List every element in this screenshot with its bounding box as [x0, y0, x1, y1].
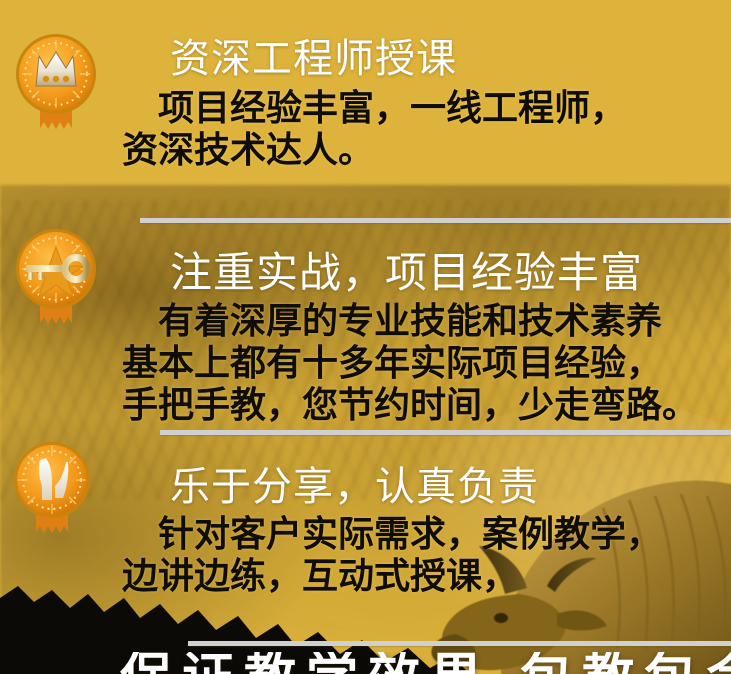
section-body-line: 基本上都有十多年实际项目经验， [122, 343, 662, 384]
section-body-line: 资深技术达人。 [122, 130, 374, 171]
divider-2 [160, 430, 731, 435]
section-body-line: 有着深厚的专业技能和技术素养 [122, 301, 662, 342]
section-title-3: 乐于分享，认真负责 [170, 454, 539, 512]
bottom-headline: 保证教学效果 包教包会 [120, 652, 731, 674]
section-title-1: 资深工程师授课 [170, 26, 457, 84]
section-title-2: 注重实战，项目经验丰富 [170, 239, 643, 300]
bottom-headline-text: 保证教学效果 包教包会 [120, 652, 731, 674]
ribbon-medal-icon [6, 438, 98, 546]
section-body-3: 针对客户实际需求，案例教学， 边讲边练，互动式授课， [122, 514, 662, 598]
crown-medal-icon [10, 30, 102, 138]
section-body-line: 边讲边练，互动式授课， [122, 556, 518, 597]
key-medal-icon [10, 225, 102, 333]
section-row-3: 乐于分享，认真负责 针对客户实际需求，案例教学， 边讲边练，互动式授课， [0, 438, 731, 618]
section-body-line: 针对客户实际需求，案例教学， [122, 514, 662, 555]
section-body-2: 有着深厚的专业技能和技术素养 基本上都有十多年实际项目经验， 手把手教，您节约时… [122, 301, 698, 426]
section-body-1: 项目经验丰富，一线工程师， 资深技术达人。 [122, 88, 626, 172]
section-row-2: 注重实战，项目经验丰富 有着深厚的专业技能和技术素养 基本上都有十多年实际项目经… [0, 225, 731, 425]
divider-1 [140, 218, 731, 223]
promo-poster: 资深工程师授课 项目经验丰富，一线工程师， 资深技术达人。 [0, 0, 731, 674]
section-row-1: 资深工程师授课 项目经验丰富，一线工程师， 资深技术达人。 [0, 0, 731, 200]
section-body-line: 手把手教，您节约时间，少走弯路。 [122, 385, 698, 426]
section-body-line: 项目经验丰富，一线工程师， [122, 88, 626, 129]
divider-3 [188, 641, 731, 646]
